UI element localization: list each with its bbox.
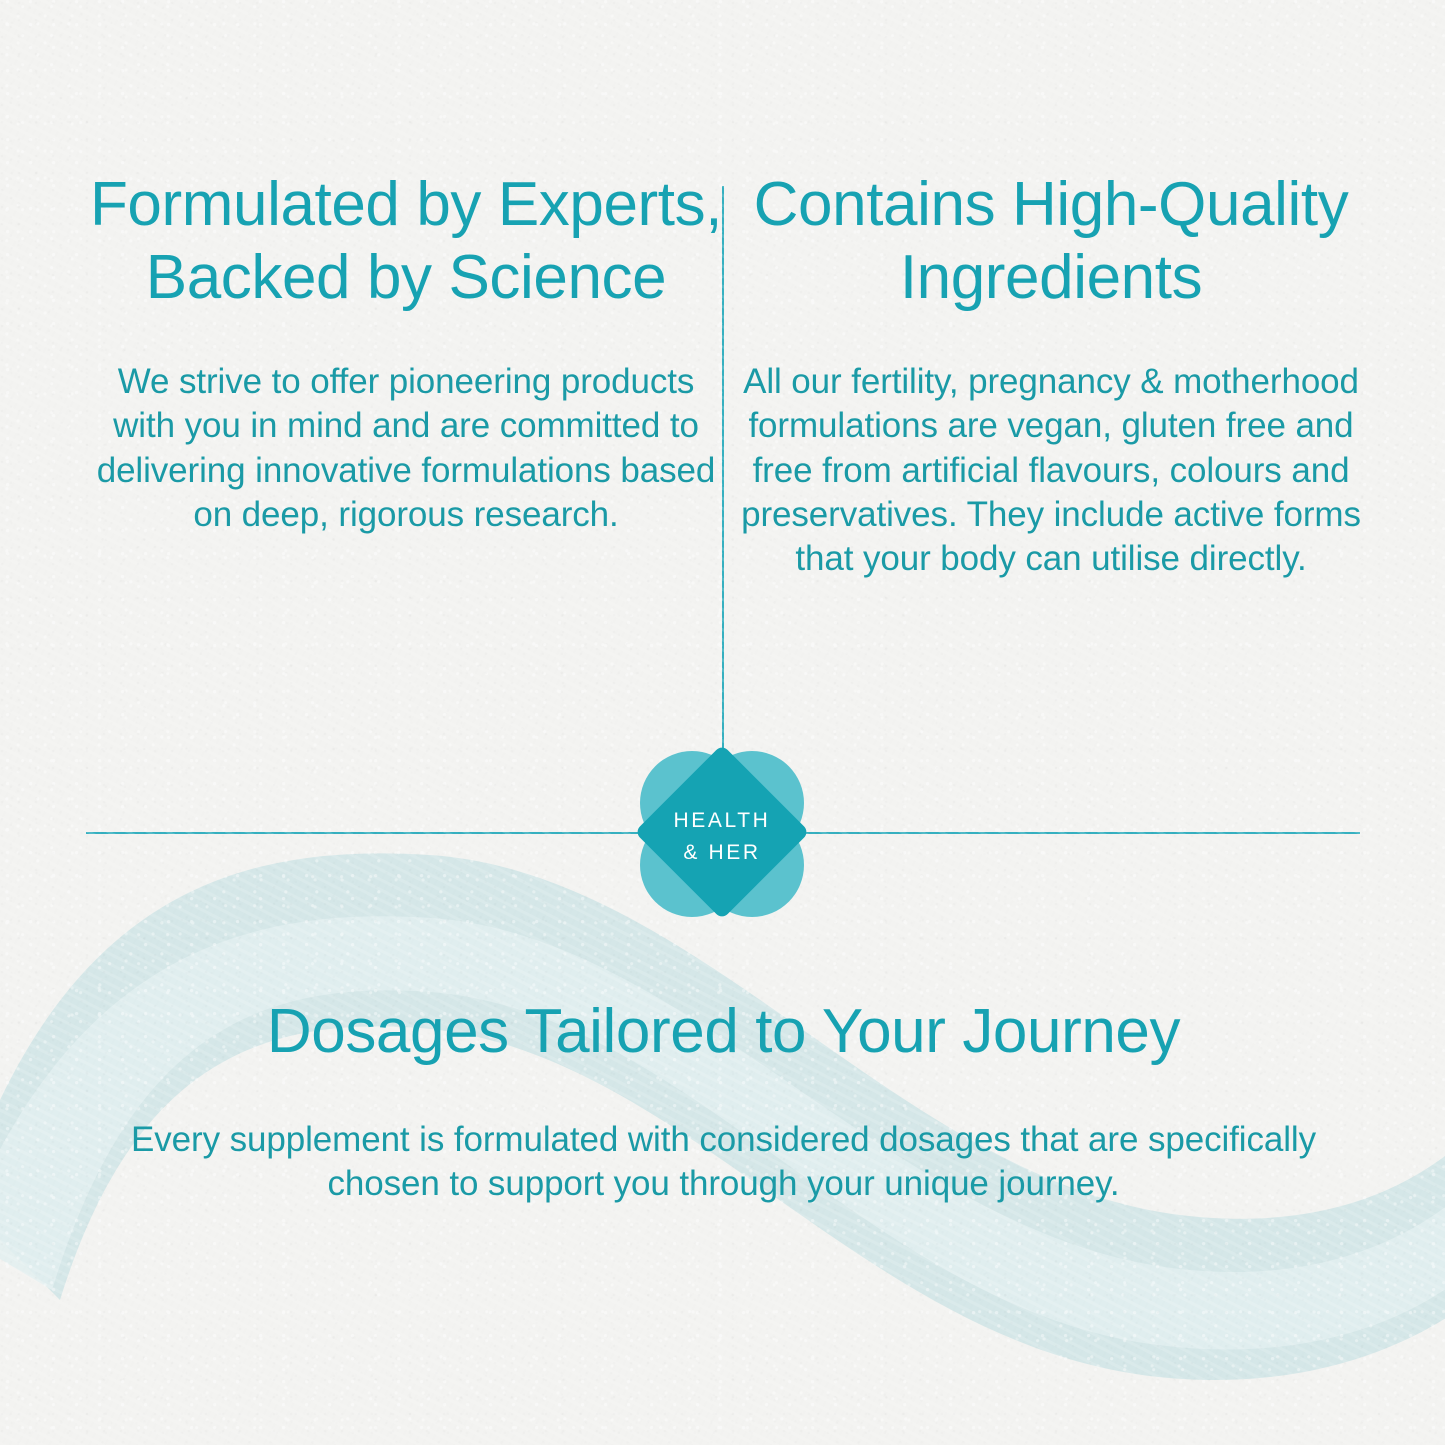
logo-svg: HEALTH & HER — [630, 745, 814, 923]
panel-right-heading: Contains High-Quality Ingredients — [740, 168, 1362, 314]
feature-panel-formulated-by-experts: Formulated by Experts, Backed by Science… — [86, 168, 726, 537]
panel-left-body: We strive to offer pioneering products w… — [86, 360, 726, 536]
panel-left-heading: Formulated by Experts, Backed by Science — [86, 168, 726, 314]
panel-right-body: All our fertility, pregnancy & motherhoo… — [740, 360, 1362, 580]
panel-bottom-heading: Dosages Tailored to Your Journey — [86, 995, 1361, 1068]
promo-graphic: Formulated by Experts, Backed by Science… — [0, 0, 1445, 1445]
feature-panel-dosages-tailored: Dosages Tailored to Your Journey Every s… — [86, 995, 1361, 1206]
panel-bottom-body: Every supplement is formulated with cons… — [86, 1118, 1361, 1206]
health-and-her-logo: HEALTH & HER — [630, 745, 814, 923]
logo-text-line2: & HER — [683, 841, 760, 864]
logo-text-line1: HEALTH — [674, 809, 771, 832]
feature-panel-high-quality-ingredients: Contains High-Quality Ingredients All ou… — [740, 168, 1362, 581]
